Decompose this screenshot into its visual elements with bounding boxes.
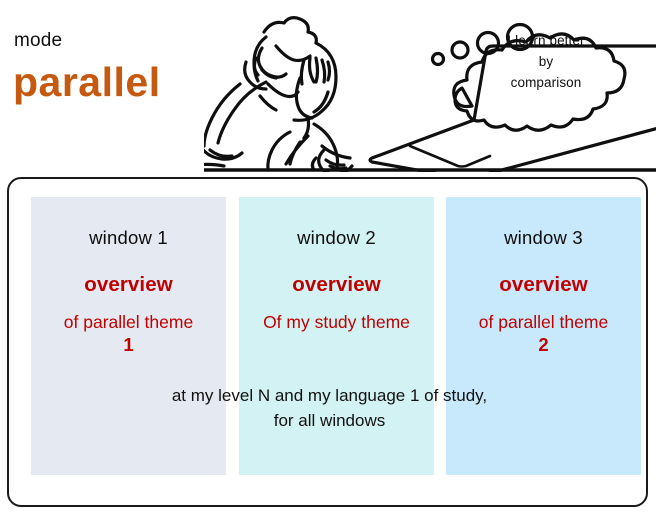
window-1-subtitle: of parallel theme 1 (31, 311, 226, 357)
windows-panel: window 1 overview of parallel theme 1 wi… (7, 177, 648, 507)
window-3-subtitle: of parallel theme 2 (446, 311, 641, 357)
window-3-title: window 3 (446, 227, 641, 249)
window-1-theme-number: 1 (35, 333, 222, 357)
window-2-title: window 2 (239, 227, 434, 249)
window-1-overview-label: overview (31, 273, 226, 297)
thought-bubble-text: I learn better by comparison (470, 31, 622, 94)
window-2-subtitle: Of my study theme (239, 311, 434, 333)
window-1-title: window 1 (31, 227, 226, 249)
window-3-overview-label: overview (446, 273, 641, 297)
window-column-2[interactable]: window 2 overview Of my study theme (239, 197, 434, 475)
window-column-3[interactable]: window 3 overview of parallel theme 2 (446, 197, 641, 475)
window-3-theme-number: 2 (450, 333, 637, 357)
window-1-subtitle-text: of parallel theme (64, 312, 193, 332)
window-2-overview-label: overview (239, 273, 434, 297)
thought-line-2: by (470, 52, 622, 73)
thought-line-1: I learn better (470, 31, 622, 52)
window-3-subtitle-text: of parallel theme (479, 312, 608, 332)
mode-value: parallel (13, 62, 161, 103)
mode-label: mode (14, 30, 62, 52)
window-column-1[interactable]: window 1 overview of parallel theme 1 (31, 197, 226, 475)
thought-line-3: comparison (470, 73, 622, 94)
window-2-subtitle-text: Of my study theme (263, 312, 410, 332)
